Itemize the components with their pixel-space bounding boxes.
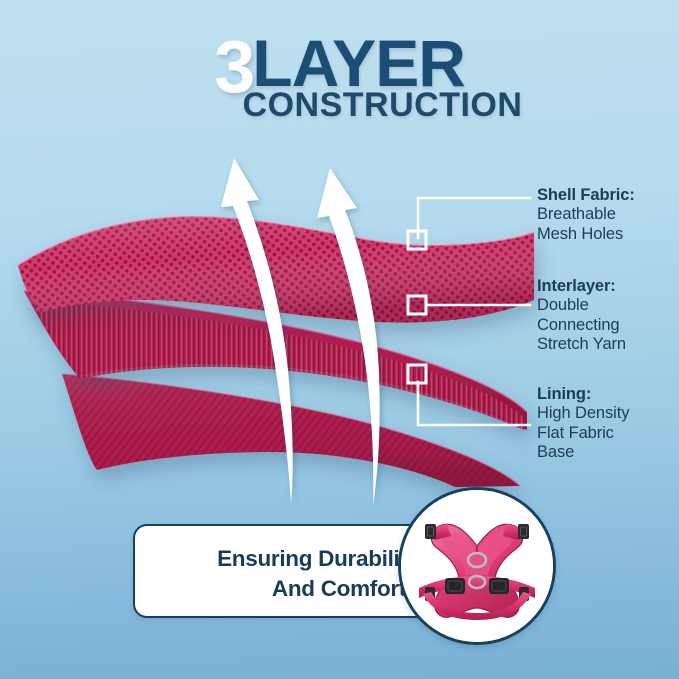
callout-line: Breathable (537, 205, 635, 224)
callout-line: High Density (537, 404, 629, 423)
callout-line: Connecting (537, 316, 626, 335)
callout-interlayer: Interlayer: Double Connecting Stretch Ya… (537, 277, 626, 354)
connector-line-shell (418, 198, 530, 238)
callout-line: Mesh Holes (537, 225, 635, 244)
callout-heading: Interlayer: (537, 277, 626, 296)
tagline-line-1: Ensuring Durability (217, 546, 419, 571)
product-photo-circle (398, 487, 556, 645)
callout-lining: Lining: High Density Flat Fabric Base (537, 385, 629, 462)
callout-line: Stretch Yarn (537, 335, 626, 354)
pink-dog-harness-image (401, 490, 553, 642)
callout-heading: Shell Fabric: (537, 186, 635, 205)
three-layer-construction-infographic: 3LAYER CONSTRUCTION (0, 0, 679, 679)
callout-line: Double (537, 296, 626, 315)
callout-heading: Lining: (537, 385, 629, 404)
callout-line: Flat Fabric (537, 424, 629, 443)
callout-shell-fabric: Shell Fabric: Breathable Mesh Holes (537, 186, 635, 244)
callout-line: Base (537, 443, 629, 462)
